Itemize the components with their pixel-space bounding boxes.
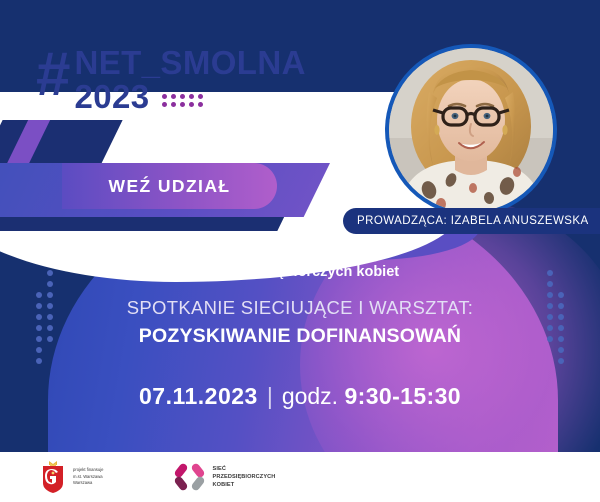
dot xyxy=(36,358,42,364)
headline-top: SPOTKANIE SIECIUJĄCE I WARSZTAT: xyxy=(0,295,600,322)
poster-canvas: WEŹ UDZIAŁ # NET_SMOLNA 2023 xyxy=(0,0,600,502)
network-logo-group: SIEĆ PRZEDSIĘBIORCZYCH KOBIET xyxy=(176,463,276,491)
event-datetime: 07.11.2023|godz. 9:30-15:30 xyxy=(0,383,600,411)
warsaw-logo-text: projekt finansuje m.st. Warszawa Warszaw… xyxy=(73,467,104,487)
title-dot-grid-icon xyxy=(162,94,203,114)
event-time: 9:30-15:30 xyxy=(344,383,461,409)
page-title: # NET_SMOLNA 2023 xyxy=(36,46,306,114)
headline: SPOTKANIE SIECIUJĄCE I WARSZTAT: POZYSKI… xyxy=(0,295,600,350)
presenter-label: PROWADZĄCA: IZABELA ANUSZEWSKA xyxy=(357,215,589,227)
title-main: NET_SMOLNA xyxy=(74,46,305,80)
cta-button-wez-udzial[interactable]: WEŹ UDZIAŁ xyxy=(62,163,277,209)
network-text-line-1: SIEĆ xyxy=(213,465,276,473)
dot xyxy=(558,358,564,364)
cta-label: WEŹ UDZIAŁ xyxy=(109,176,231,197)
warsaw-text-line-3: Warszawa xyxy=(73,480,104,487)
intro-text: Bezpłatne spotkania dla przedsiębiorczyc… xyxy=(0,240,600,284)
time-prefix: godz. xyxy=(282,383,338,409)
izabela-anuszewska-portrait xyxy=(389,48,553,212)
siec-x-mark-icon xyxy=(176,463,206,491)
title-year: 2023 xyxy=(74,80,149,115)
avatar xyxy=(385,44,557,216)
network-logo-text: SIEĆ PRZEDSIĘBIORCZYCH KOBIET xyxy=(213,465,276,489)
warsaw-logo-group: projekt finansuje m.st. Warszawa Warszaw… xyxy=(40,460,104,494)
network-text-line-2: PRZEDSIĘBIORCZYCH xyxy=(213,473,276,481)
intro-line-2: dla przedsiębiorczych kobiet xyxy=(0,262,600,284)
status-badge-presenter: PROWADZĄCA: IZABELA ANUSZEWSKA xyxy=(343,208,600,234)
headline-bottom: POZYSKIWANIE DOFINANSOWAŃ xyxy=(0,322,600,350)
hashtag-symbol: # xyxy=(36,46,68,103)
warsaw-text-line-2: m.st. Warszawa xyxy=(73,474,104,481)
footer-logos: projekt finansuje m.st. Warszawa Warszaw… xyxy=(0,452,600,502)
warsaw-coat-of-arms-icon xyxy=(40,460,66,494)
title-lines: NET_SMOLNA 2023 xyxy=(74,46,305,114)
event-date: 07.11.2023 xyxy=(139,383,258,409)
portrait-illustration xyxy=(389,48,553,212)
network-text-line-3: KOBIET xyxy=(213,481,276,489)
warsaw-text-line-1: projekt finansuje xyxy=(73,467,104,474)
title-sub-row: 2023 xyxy=(74,80,305,115)
intro-line-1: Bezpłatne spotkania xyxy=(0,240,600,262)
datetime-separator: | xyxy=(258,383,282,409)
